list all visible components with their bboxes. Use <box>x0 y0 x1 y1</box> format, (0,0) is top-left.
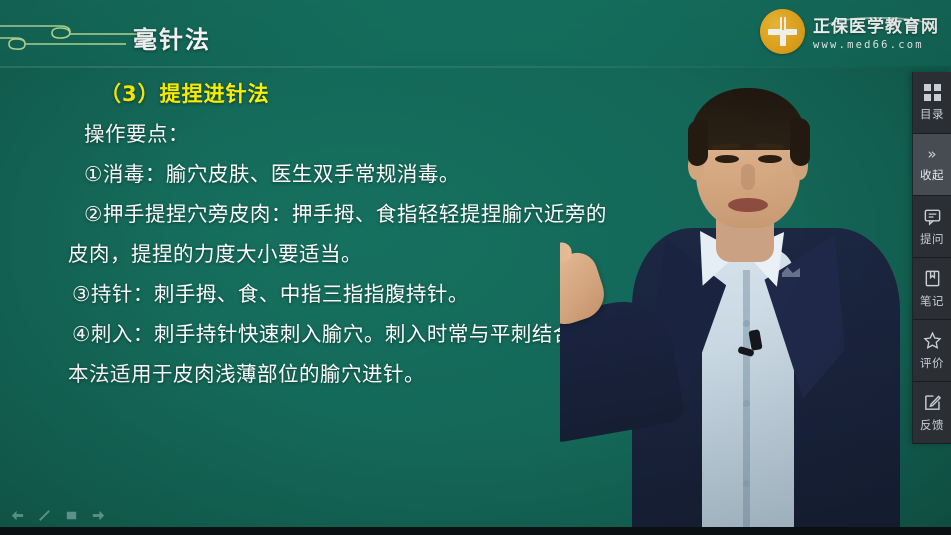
pencil-square-icon <box>923 393 942 412</box>
pen-icon[interactable] <box>37 508 52 523</box>
star-icon <box>923 331 942 350</box>
sidebar-item-pencil-square[interactable]: 反馈 <box>913 382 951 444</box>
sidebar-item-label: 目录 <box>920 106 944 122</box>
instructor-video-figure <box>560 60 951 535</box>
brand-url: www.med66.com <box>813 39 939 51</box>
cloud-wave-decoration-icon <box>0 8 144 54</box>
sidebar-item-label: 反馈 <box>920 417 944 433</box>
page-title: 毫针法 <box>133 20 211 55</box>
player-bottom-strip <box>0 527 951 535</box>
sidebar-item-label: 收起 <box>920 167 944 183</box>
grid-icon <box>924 84 941 101</box>
video-lecture-player: 毫针法 正保医学教育网 www.med66.com （3）提捏进针法 操作要点：… <box>0 0 951 535</box>
player-side-toolbar[interactable]: 目录»收起提问笔记评价反馈 <box>912 72 951 444</box>
cross-medical-logo-icon <box>760 9 805 54</box>
slide-heading: （3）提捏进针法 <box>100 78 270 108</box>
sidebar-item-speech-bubble[interactable]: 提问 <box>913 196 951 258</box>
sidebar-item-star[interactable]: 评价 <box>913 320 951 382</box>
arrow-left-icon[interactable] <box>10 508 25 523</box>
sidebar-item-chevron-double-right[interactable]: »收起 <box>913 134 951 196</box>
brand-logo: 正保医学教育网 www.med66.com <box>760 9 939 54</box>
speech-bubble-icon <box>923 207 942 226</box>
book-icon <box>923 269 942 288</box>
chevron-double-right-icon: » <box>927 147 936 162</box>
square-icon[interactable] <box>64 508 79 523</box>
brand-name: 正保医学教育网 <box>813 12 939 37</box>
sidebar-item-grid[interactable]: 目录 <box>913 72 951 134</box>
sidebar-item-label: 评价 <box>920 355 944 371</box>
arrow-right-icon[interactable] <box>91 508 106 523</box>
sidebar-item-label: 笔记 <box>920 293 944 309</box>
annotation-toolbar[interactable] <box>10 508 106 523</box>
sidebar-item-book[interactable]: 笔记 <box>913 258 951 320</box>
sidebar-item-label: 提问 <box>920 231 944 247</box>
